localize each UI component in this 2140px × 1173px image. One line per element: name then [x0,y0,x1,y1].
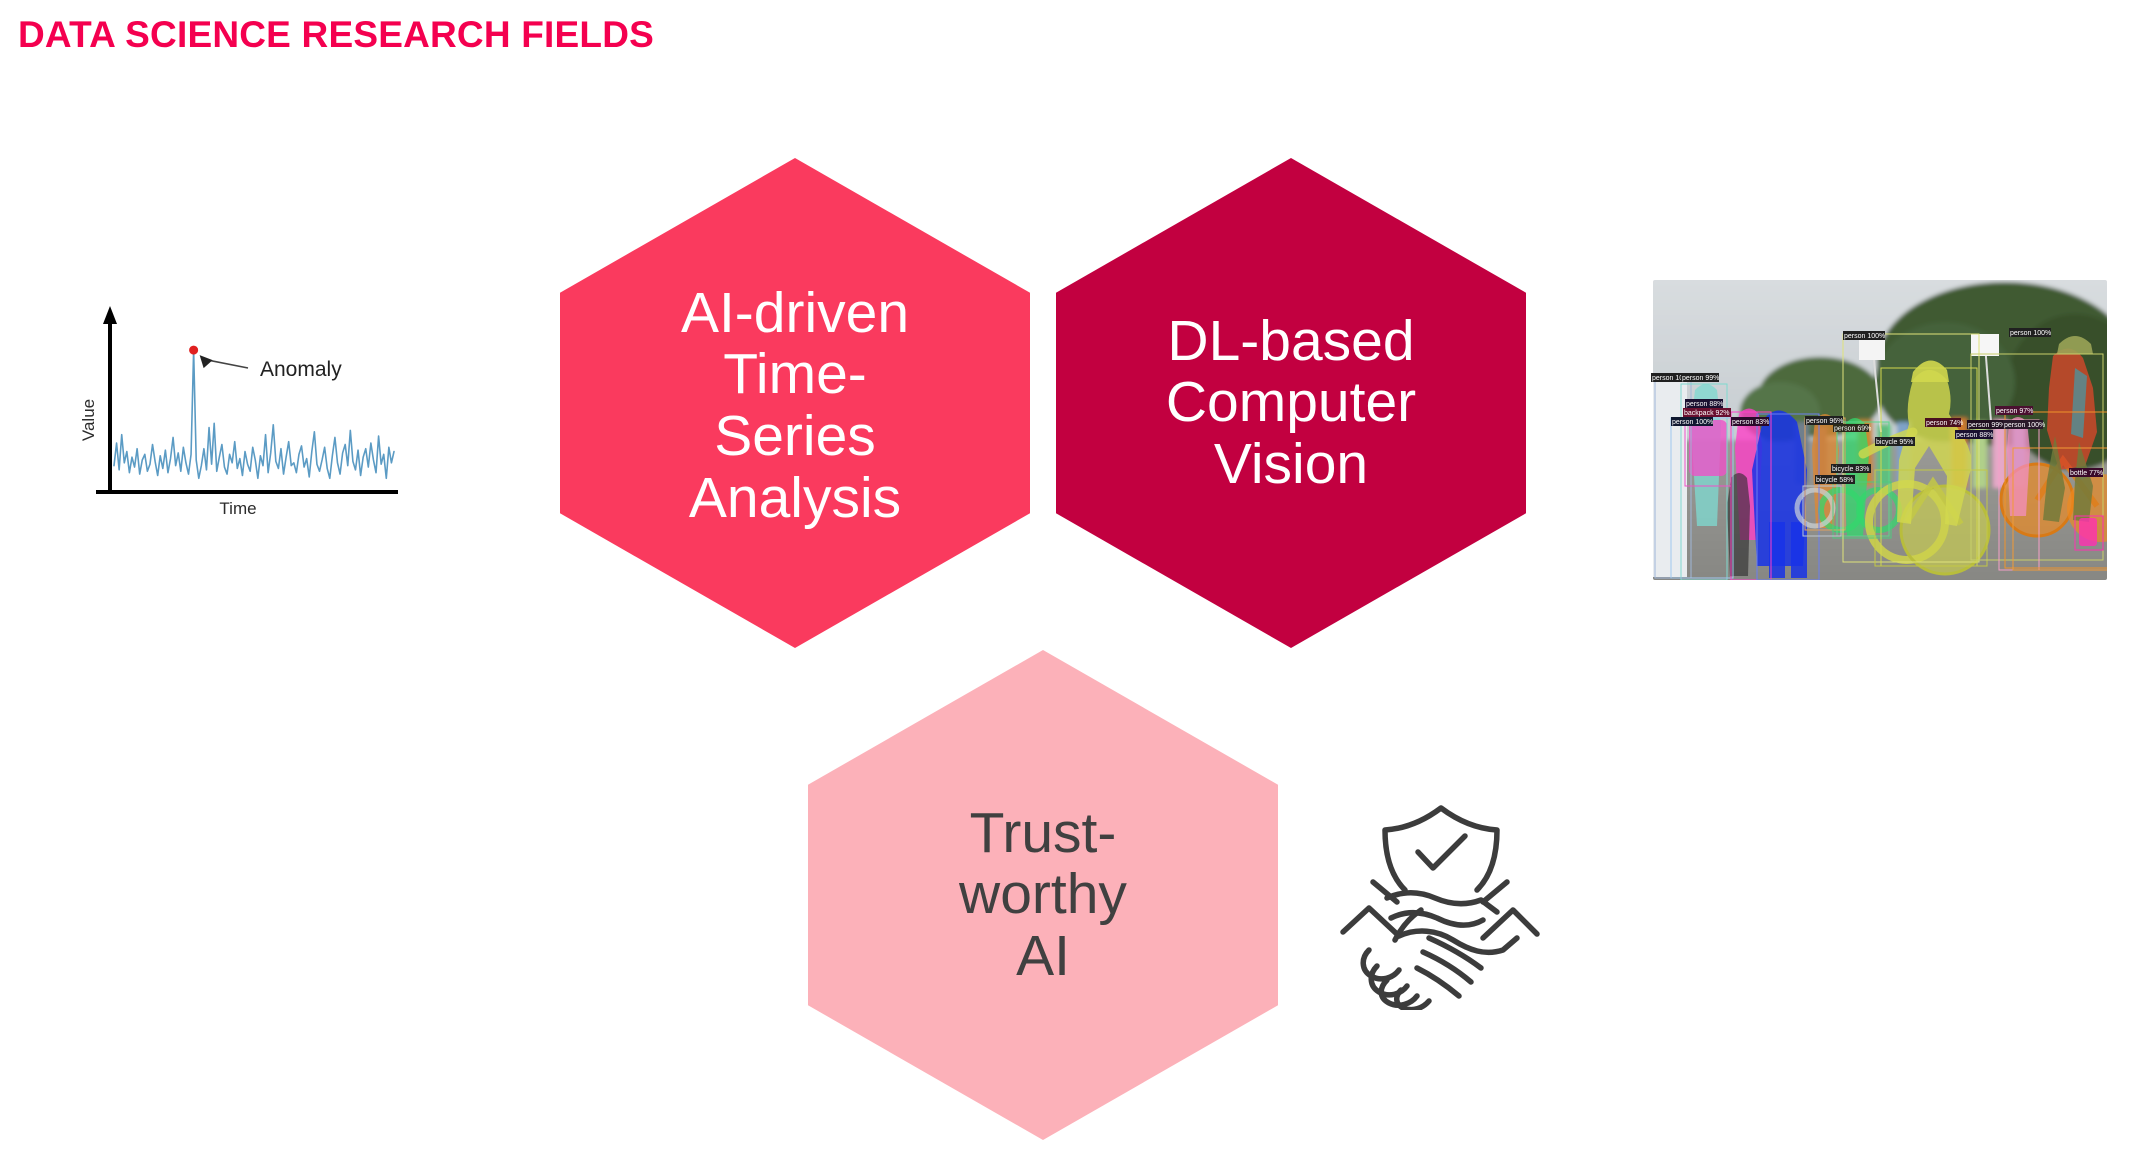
detection-label: person 74% [1925,418,1963,427]
detection-label: bicycle 83% [1831,464,1871,473]
detection-label: person 83% [1731,417,1769,426]
hexagon-ai-driven-time-series-analysis[interactable]: AI-driven Time- Series Analysis [560,158,1030,648]
svg-text:person 100%: person 100% [1844,333,1885,340]
page-title: DATA SCIENCE RESEARCH FIELDS [18,14,654,56]
detection-label: person 100% [2003,420,2045,429]
chart-ylabel: Value [79,399,98,441]
hexagon-label: DL-based Computer Vision [1158,311,1424,496]
svg-text:person 88%: person 88% [1686,401,1723,408]
handshake-shield-check-icon [1325,790,1555,1010]
detection-label: person 96% [1805,416,1843,425]
detection-label: person 97% [1995,406,2033,415]
detection-label: bicycle 58% [1815,475,1855,484]
svg-text:person 100%: person 100% [1672,419,1713,426]
detection-label: person 100% [1843,331,1885,340]
anomaly-callout-arrow [200,355,248,368]
svg-text:bicycle 95%: bicycle 95% [1876,439,1913,446]
hexagon-label: AI-driven Time- Series Analysis [673,283,917,529]
svg-text:bicycle 83%: bicycle 83% [1832,466,1869,473]
hexagon-dl-based-computer-vision[interactable]: DL-based Computer Vision [1056,158,1526,648]
hexagon-label: Trust- worthy AI [951,803,1135,988]
detection-label: backpack 92% [1683,408,1731,417]
detection-label: person 88% [1955,430,1993,439]
hexagon-trustworthy-ai[interactable]: Trust- worthy AI [808,650,1278,1140]
svg-text:person 97%: person 97% [1996,408,2033,415]
svg-text:person 100%: person 100% [2004,422,2045,429]
detection-label: bottle 77% [2069,468,2103,477]
timeseries-line [114,350,394,478]
svg-text:bicycle 58%: bicycle 58% [1816,477,1853,484]
instance-segmentation-demo-image: person 100% person 99% person 88% backpa… [1645,272,2115,592]
anomaly-annotation-label: Anomaly [260,358,342,381]
chart-xlabel: Time [219,499,256,518]
anomaly-marker [189,346,198,355]
svg-text:person 99%: person 99% [1682,375,1719,382]
svg-text:person 100%: person 100% [2010,330,2051,337]
svg-text:backpack 92%: backpack 92% [1684,410,1730,417]
svg-text:person 88%: person 88% [1956,432,1993,439]
svg-text:bottle 77%: bottle 77% [2070,470,2103,477]
detection-label: person 99% [1967,420,2005,429]
svg-text:person 83%: person 83% [1732,419,1769,426]
detection-label: person 88% [1685,399,1723,408]
detection-label: person 100% [1671,417,1713,426]
svg-text:person 69%: person 69% [1834,426,1871,433]
svg-text:person 99%: person 99% [1968,422,2005,429]
svg-text:person 96%: person 96% [1806,418,1843,425]
detection-label: person 69% [1833,424,1871,433]
anomaly-detection-chart: Anomaly Value Time [78,300,468,560]
detection-label: person 100% [2009,328,2051,337]
detection-label: person 99% [1681,373,1719,382]
svg-text:person 74%: person 74% [1926,420,1963,427]
detection-label: bicycle 95% [1875,437,1915,446]
